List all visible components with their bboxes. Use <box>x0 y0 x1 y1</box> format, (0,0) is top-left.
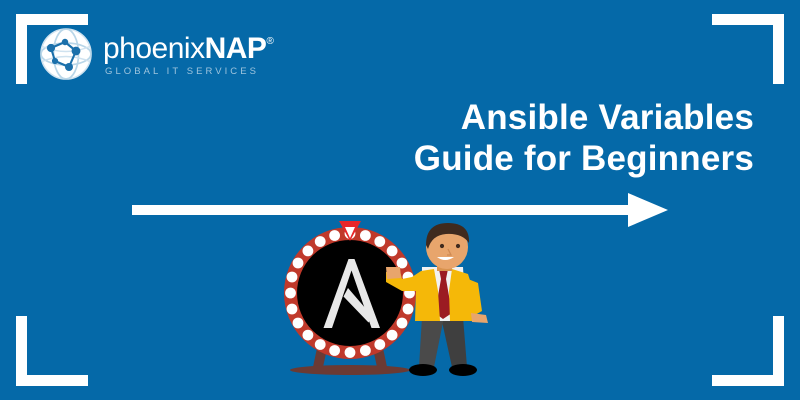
registered-mark-icon: ® <box>266 36 273 47</box>
page-title-line-2: Guide for Beginners <box>0 139 754 180</box>
corner-bracket-bottom-right <box>712 316 784 386</box>
page-title-line-1: Ansible Variables <box>0 98 754 139</box>
banner: phoenixNAP® GLOBAL IT SERVICES Ansible V… <box>0 0 800 400</box>
logo-wordmark: phoenixNAP® <box>103 34 273 64</box>
corner-bracket-bottom-left <box>16 316 88 386</box>
globe-network-icon <box>38 26 94 82</box>
phoenixnap-logo: phoenixNAP® GLOBAL IT SERVICES <box>38 26 273 82</box>
logo-wordmark-block: phoenixNAP® GLOBAL IT SERVICES <box>103 32 273 77</box>
corner-bracket-top-right <box>712 14 784 84</box>
ansible-prize-wheel <box>284 221 416 359</box>
logo-wordmark-bold: NAP <box>205 32 267 65</box>
logo-wordmark-light: phoenix <box>103 32 205 65</box>
logo-tagline: GLOBAL IT SERVICES <box>103 67 273 77</box>
ansible-prize-wheel-with-presenter <box>282 221 526 381</box>
page-title: Ansible Variables Guide for Beginners <box>0 98 754 180</box>
